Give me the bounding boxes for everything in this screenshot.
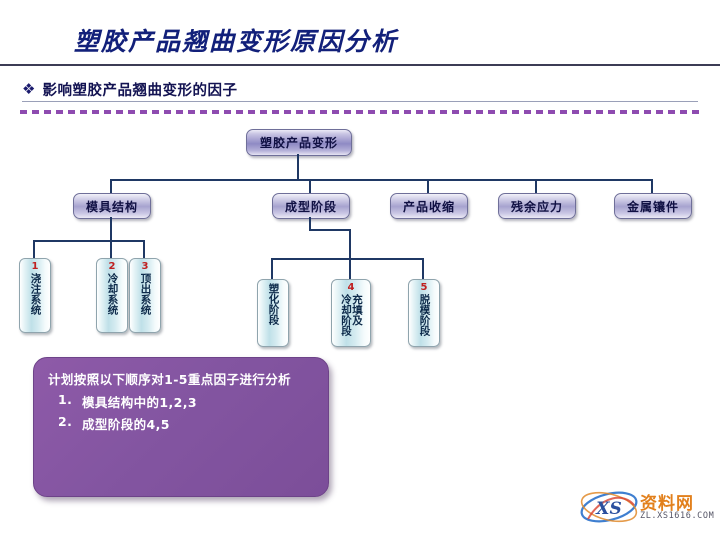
connector-mold-drop-2: [110, 240, 112, 259]
note-item-text: 模具结构中的1,2,3: [82, 392, 197, 411]
node-metal-insert[interactable]: 金属镶件: [614, 193, 692, 219]
node-product-shrinkage-label: 产品收缩: [403, 198, 455, 215]
leaf-ejection-system-label: 顶出系统: [139, 273, 150, 315]
connector-drop-2: [309, 179, 311, 194]
leaf-gating-system-number: 1: [20, 261, 50, 272]
leaf-cooling-system[interactable]: 2 冷却系统: [96, 258, 128, 333]
leaf-ejection-system[interactable]: 3 顶出系统: [129, 258, 161, 333]
connector-drop-5: [651, 179, 653, 194]
node-forming-stage[interactable]: 成型阶段: [272, 193, 350, 219]
node-product-shrinkage[interactable]: 产品收缩: [390, 193, 468, 219]
note-item-marker: 1.: [48, 392, 82, 411]
xs-logo-icon: XS: [578, 489, 640, 525]
leaf-plasticizing-stage-label: 塑化阶段: [267, 283, 278, 325]
slide: 塑胶产品翘曲变形原因分析 ❖ 影响塑胶产品翘曲变形的因子 塑胶产品变形 模具结构…: [0, 0, 720, 540]
connector-forming-drop-1: [271, 258, 273, 280]
node-mold-structure-label: 模具结构: [86, 198, 138, 215]
node-mold-structure[interactable]: 模具结构: [73, 193, 151, 219]
note-item-marker: 2.: [48, 414, 82, 433]
leaf-gating-system-label: 浇注系统: [29, 273, 40, 315]
leaf-cooling-system-number: 2: [97, 261, 127, 272]
leaf-demolding-stage-number: 5: [409, 282, 439, 293]
connector-mold-drop-3: [143, 240, 145, 259]
connector-forming-stem-b: [349, 229, 351, 260]
note-list-item: 1. 模具结构中的1,2,3: [48, 392, 314, 411]
connector-level2-bus: [110, 179, 653, 181]
leaf-filling-cooling-stage-label-col2: 冷却阶段: [340, 294, 351, 336]
leaf-filling-cooling-stage[interactable]: 4 充填及 冷却阶段: [331, 279, 371, 347]
leaf-demolding-stage-label: 脱模阶段: [418, 294, 429, 336]
connector-forming-drop-2: [349, 258, 351, 280]
leaf-ejection-system-number: 3: [130, 261, 160, 272]
svg-text:XS: XS: [595, 499, 621, 519]
connector-root-stem: [297, 154, 299, 180]
connector-drop-1: [110, 179, 112, 194]
connector-mold-bus: [33, 240, 145, 242]
leaf-filling-cooling-stage-number: 4: [332, 282, 370, 293]
connector-forming-drop-3: [422, 258, 424, 280]
leaf-plasticizing-stage[interactable]: 塑化阶段: [257, 279, 289, 347]
watermark: XS 资料网 ZL.XS1616.COM: [578, 487, 710, 533]
node-residual-stress-label: 残余应力: [511, 198, 563, 215]
watermark-url: ZL.XS1616.COM: [640, 511, 714, 521]
connector-drop-4: [535, 179, 537, 194]
note-item-text: 成型阶段的4,5: [82, 414, 170, 433]
connector-forming-bus: [271, 258, 424, 260]
node-forming-stage-label: 成型阶段: [285, 198, 337, 215]
node-root-label: 塑胶产品变形: [260, 134, 338, 151]
leaf-demolding-stage[interactable]: 5 脱模阶段: [408, 279, 440, 347]
leaf-gating-system[interactable]: 1 浇注系统: [19, 258, 51, 333]
note-panel: 计划按照以下顺序对1-5重点因子进行分析 1. 模具结构中的1,2,3 2. 成…: [33, 357, 329, 497]
node-root[interactable]: 塑胶产品变形: [246, 129, 352, 156]
connector-forming-jog: [309, 229, 351, 231]
connector-mold-stem: [110, 217, 112, 241]
connector-mold-drop-1: [33, 240, 35, 259]
node-metal-insert-label: 金属镶件: [627, 198, 679, 215]
leaf-filling-cooling-stage-label-col1: 充填及: [351, 294, 362, 326]
node-residual-stress[interactable]: 残余应力: [498, 193, 576, 219]
note-list-item: 2. 成型阶段的4,5: [48, 414, 314, 433]
leaf-cooling-system-label: 冷却系统: [106, 273, 117, 315]
note-title: 计划按照以下顺序对1-5重点因子进行分析: [48, 369, 314, 388]
connector-drop-3: [427, 179, 429, 194]
